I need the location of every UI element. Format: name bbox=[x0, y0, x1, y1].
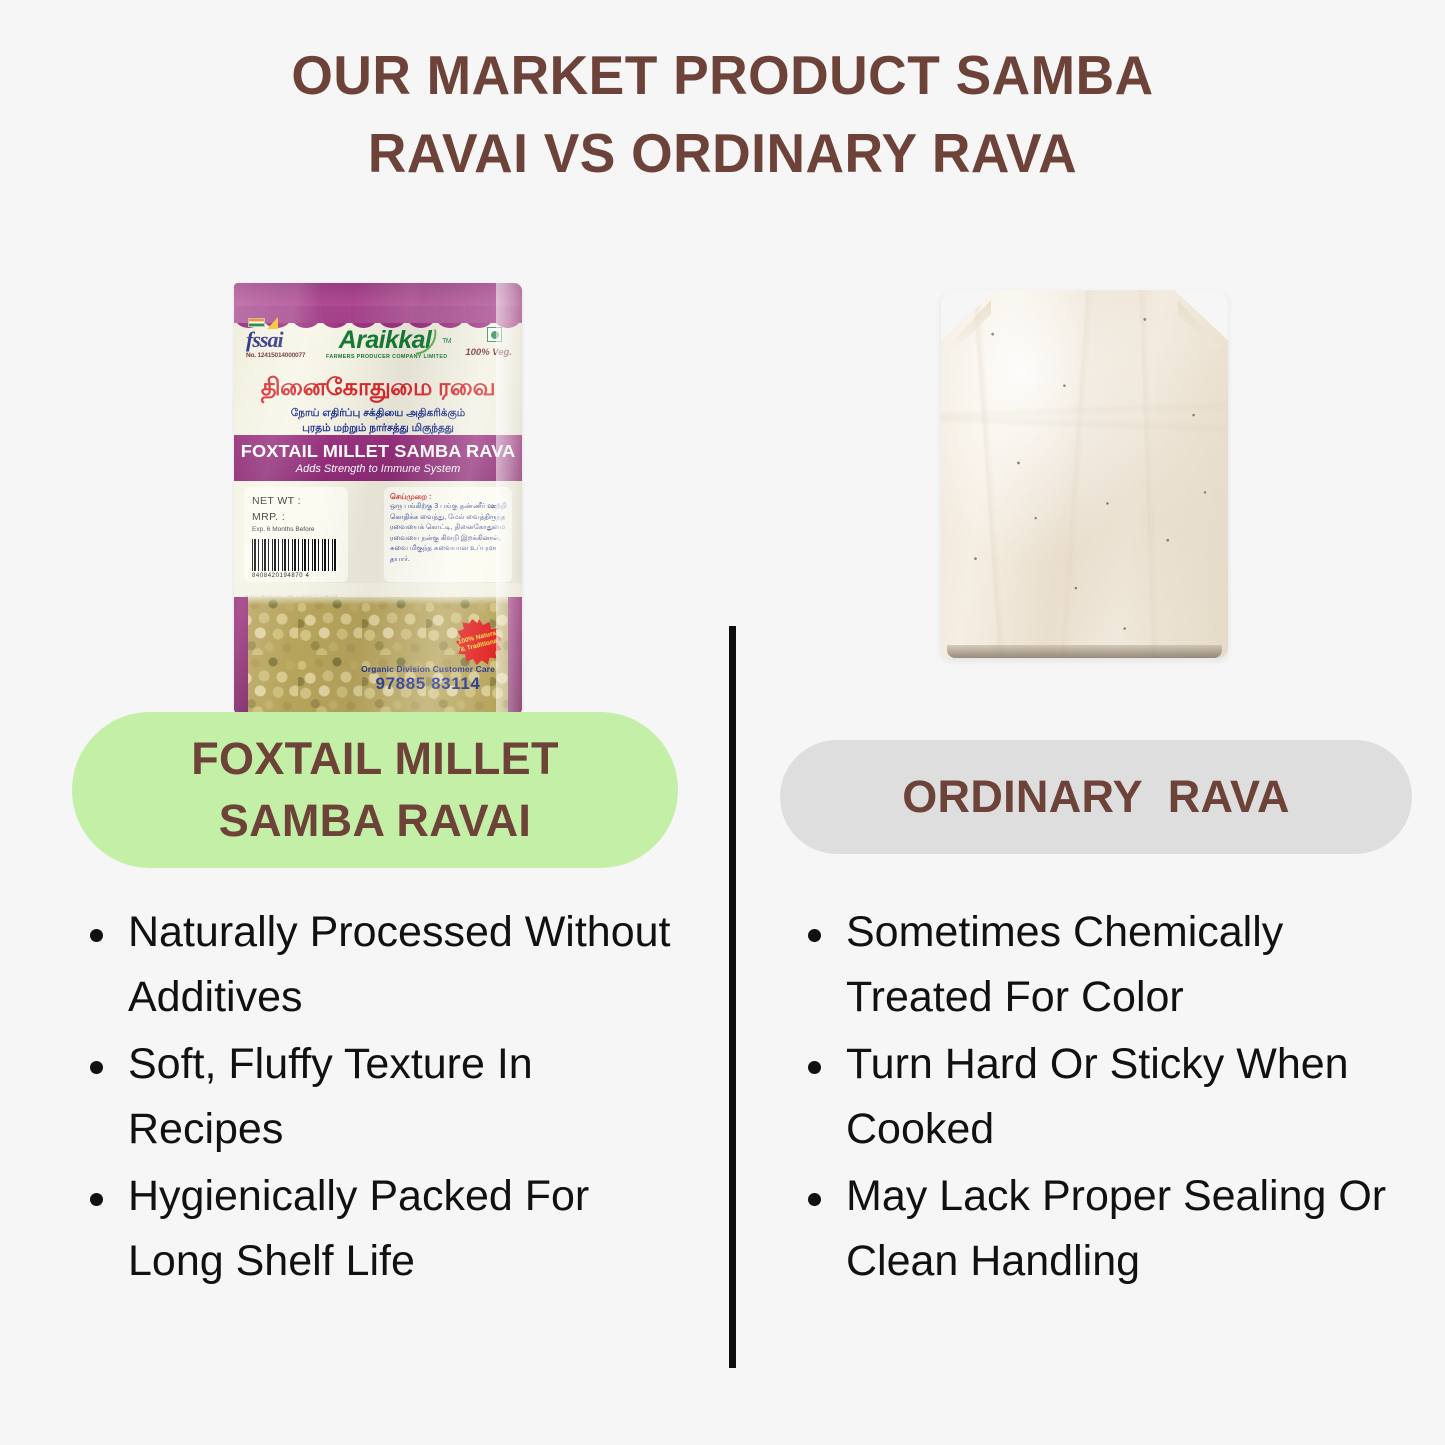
drawbacks-list-ordinary: Sometimes Chemically Treated For Color T… bbox=[796, 900, 1416, 1296]
bag-bottom-seam bbox=[947, 645, 1222, 658]
tamil-product-name: தினைகோதுமை ரவை bbox=[234, 375, 522, 401]
net-weight-label: NET WT : bbox=[252, 493, 348, 509]
package-left-strip bbox=[234, 597, 248, 713]
title-line-2: RAVAI VS ORDINARY RAVA bbox=[22, 114, 1424, 192]
list-item: May Lack Proper Sealing Or Clean Handlin… bbox=[796, 1164, 1416, 1294]
recipe-body: ஒரு பங்கிற்கு 3 பங்கு தண்ணீர் ஊற்றி கொதி… bbox=[390, 502, 507, 565]
column-divider bbox=[729, 626, 736, 1368]
label-pill-foxtail-text: FOXTAIL MILLET SAMBA RAVAI bbox=[191, 728, 559, 852]
label-pill-foxtail-line-2: SAMBA RAVAI bbox=[191, 790, 559, 852]
list-item: Soft, Fluffy Texture In Recipes bbox=[78, 1032, 678, 1162]
list-item: Turn Hard Or Sticky When Cooked bbox=[796, 1032, 1416, 1162]
label-pill-foxtail-millet: FOXTAIL MILLET SAMBA RAVAI bbox=[72, 712, 678, 868]
bag-wrinkle-texture bbox=[941, 290, 1228, 658]
fssai-logo: fssai No. 12415014000077 bbox=[246, 329, 320, 359]
india-flag-icon bbox=[248, 318, 265, 327]
fssai-mark-text: fssai bbox=[246, 329, 320, 351]
label-pill-ordinary-text: ORDINARY RAVA bbox=[902, 768, 1290, 826]
grains-fade-edge bbox=[234, 583, 522, 605]
barcode-icon bbox=[252, 539, 338, 571]
label-pill-ordinary-rava: ORDINARY RAVA bbox=[780, 740, 1412, 854]
foxtail-millet-package-image: fssai No. 12415014000077 AraikkalTM FARM… bbox=[234, 283, 522, 713]
label-pill-foxtail-line-1: FOXTAIL MILLET bbox=[191, 728, 559, 790]
list-item: Naturally Processed Without Additives bbox=[78, 900, 678, 1030]
list-item: Hygienically Packed For Long Shelf Life bbox=[78, 1164, 678, 1294]
bag-speck-texture bbox=[941, 290, 1228, 658]
infographic-canvas: OUR MARKET PRODUCT SAMBA RAVAI VS ORDINA… bbox=[0, 0, 1445, 1445]
package-right-strip bbox=[508, 597, 522, 713]
recipe-title: செய்முறை : bbox=[390, 492, 507, 502]
package-banner-title: FOXTAIL MILLET SAMBA RAVA bbox=[241, 441, 516, 462]
fssai-triangle-icon bbox=[267, 317, 278, 329]
package-banner-subtitle: Adds Strength to Immune System bbox=[296, 463, 460, 475]
expiry-note: Exp. 6 Months Before bbox=[252, 526, 348, 533]
natural-traditional-badge-text: 100% Natural & Traditional bbox=[455, 629, 504, 656]
trademark-icon: TM bbox=[442, 329, 451, 355]
fssai-license-number: No. 12415014000077 bbox=[246, 352, 320, 359]
customer-care-phone: 97885 83114 bbox=[348, 674, 508, 693]
package-info-panel: NET WT : MRP. : Exp. 6 Months Before 840… bbox=[244, 487, 348, 582]
mrp-label: MRP. : bbox=[252, 509, 348, 525]
package-recipe-panel: செய்முறை : ஒரு பங்கிற்கு 3 பங்கு தண்ணீர்… bbox=[384, 487, 512, 582]
customer-care-label: Organic Division Customer Care bbox=[348, 664, 508, 674]
title-line-1: OUR MARKET PRODUCT SAMBA bbox=[22, 36, 1424, 114]
package-purple-banner: FOXTAIL MILLET SAMBA RAVA Adds Strength … bbox=[234, 435, 522, 481]
ordinary-rava-package-image bbox=[941, 290, 1228, 658]
brand-logo: AraikkalTM FARMERS PRODUCER COMPANY LIMI… bbox=[326, 327, 444, 360]
benefits-list-foxtail: Naturally Processed Without Additives So… bbox=[78, 900, 678, 1296]
vegetarian-mark-icon bbox=[487, 327, 502, 342]
page-title: OUR MARKET PRODUCT SAMBA RAVAI VS ORDINA… bbox=[0, 36, 1445, 192]
customer-care-block: Organic Division Customer Care 97885 831… bbox=[348, 664, 508, 693]
tamil-tagline-line-2: புரதம் மற்றும் நார்சத்து மிகுந்தது bbox=[234, 421, 522, 436]
brand-subtitle: FARMERS PRODUCER COMPANY LIMITED bbox=[326, 354, 444, 360]
barcode-number: 8408420194870 4 bbox=[252, 573, 309, 579]
tamil-tagline: நோய் எதிர்ப்பு சக்தியை அதிகரிக்கும் புரத… bbox=[234, 406, 522, 436]
list-item: Sometimes Chemically Treated For Color bbox=[796, 900, 1416, 1030]
veg-percentage-label: 100% Veg. bbox=[465, 347, 512, 358]
tamil-tagline-line-1: நோய் எதிர்ப்பு சக்தியை அதிகரிக்கும் bbox=[234, 406, 522, 421]
